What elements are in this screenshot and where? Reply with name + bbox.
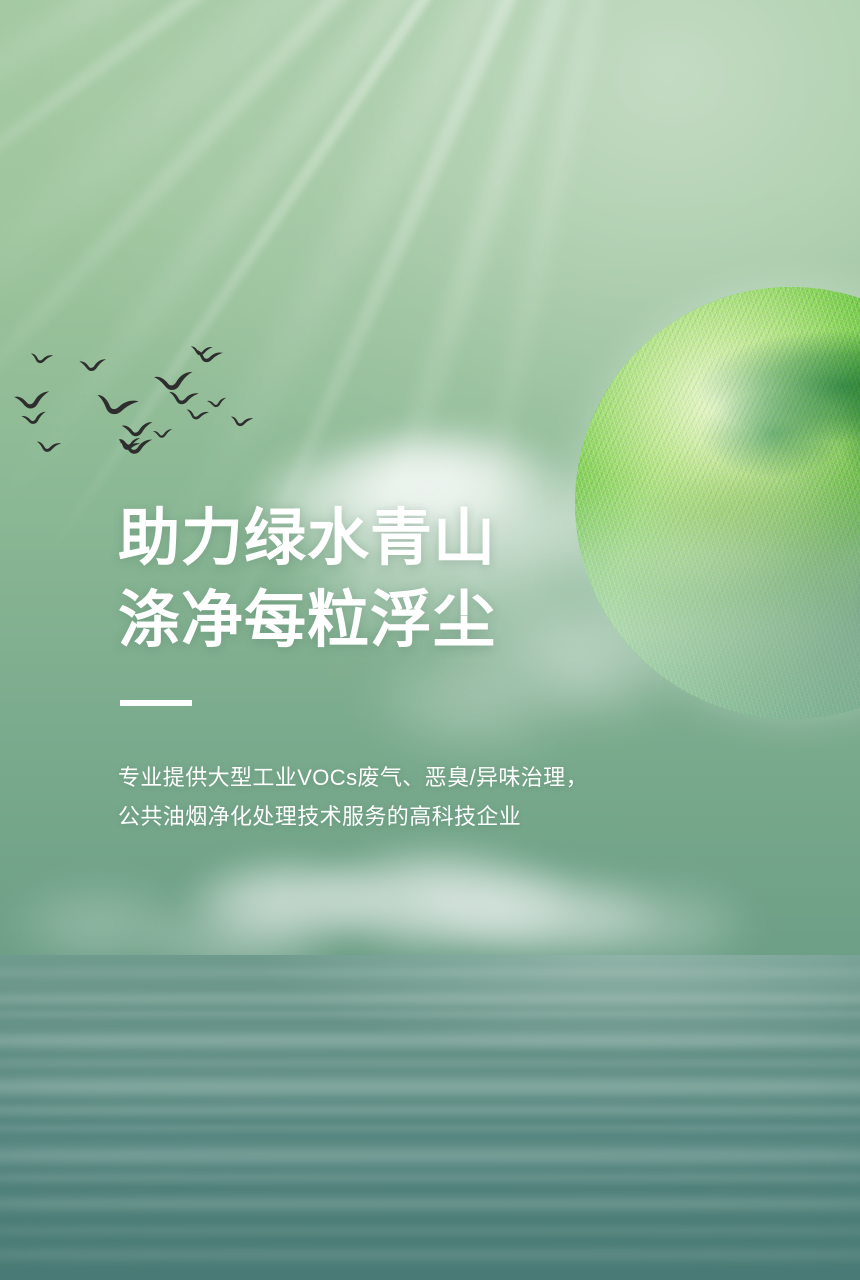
- water-wave: [0, 1058, 860, 1069]
- hero-copy: 助力绿水青山 涤净每粒浮尘 专业提供大型工业VOCs废气、恶臭/异味治理， 公共…: [118, 498, 658, 836]
- water-wave: [0, 1124, 860, 1133]
- water-wave: [0, 1146, 860, 1166]
- water-wave: [0, 992, 860, 1006]
- headline-divider: [120, 700, 192, 706]
- hero-banner: 助力绿水青山 涤净每粒浮尘 专业提供大型工业VOCs废气、恶臭/异味治理， 公共…: [0, 0, 860, 1280]
- water-surface: [0, 955, 860, 1280]
- water-wave: [0, 1248, 860, 1262]
- water-wave: [0, 968, 860, 978]
- water-wave: [0, 1226, 860, 1236]
- headline-line-1: 助力绿水青山: [118, 498, 658, 580]
- bird-icon: [152, 428, 174, 440]
- headline-line-2: 涤净每粒浮尘: [118, 580, 658, 662]
- water-wave: [0, 1032, 860, 1050]
- bird-icon: [78, 358, 108, 374]
- bird-icon: [229, 415, 255, 429]
- water-wave: [0, 1172, 860, 1184]
- bird-icon: [29, 352, 55, 366]
- water-wave: [0, 1104, 860, 1117]
- water-wave: [0, 1010, 860, 1019]
- subtitle-line-1: 专业提供大型工业VOCs废气、恶臭/异味治理，: [118, 758, 658, 797]
- bird-icon: [118, 437, 141, 449]
- water-wave: [0, 1196, 860, 1212]
- bird-icon: [35, 440, 63, 455]
- water-wave: [0, 1076, 860, 1098]
- subtitle-line-2: 公共油烟净化处理技术服务的高科技企业: [118, 797, 658, 836]
